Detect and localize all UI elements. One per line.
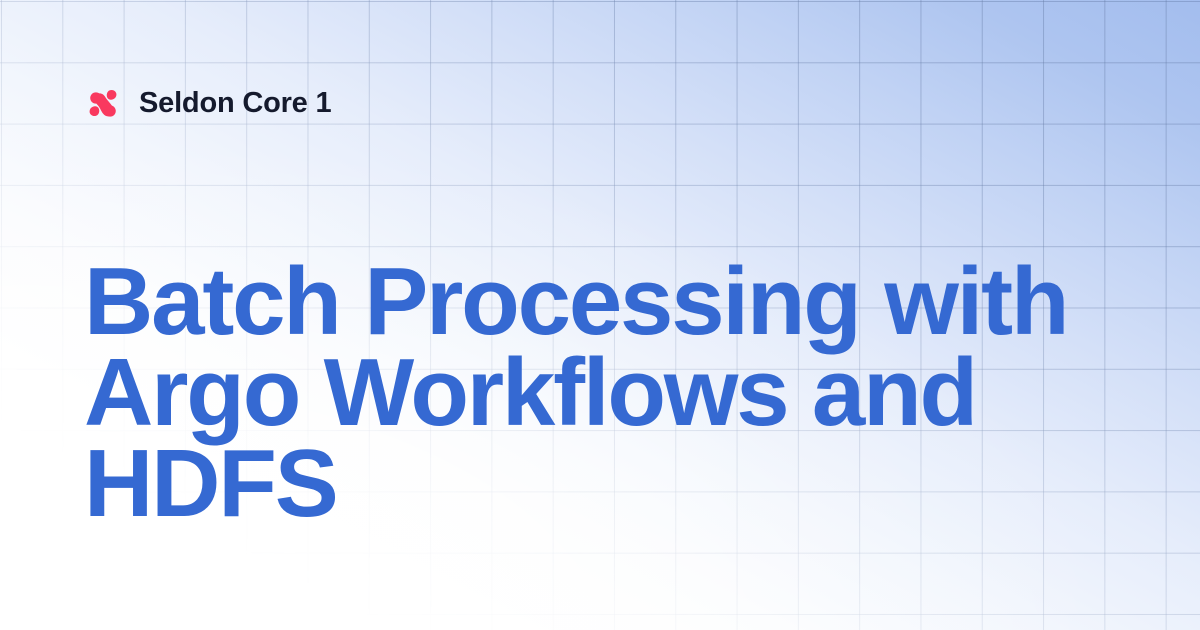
brand-name: Seldon Core 1: [139, 89, 331, 118]
page-title-line-3: HDFS: [84, 438, 1094, 529]
brand: Seldon Core 1: [84, 82, 331, 124]
seldon-logo-icon: [84, 84, 122, 122]
og-card: Seldon Core 1 Batch Processing with Argo…: [0, 0, 1200, 630]
page-title-line-1: Batch Processing with: [84, 256, 1094, 347]
page-title: Batch Processing with Argo Workflows and…: [84, 256, 1094, 529]
page-title-line-2: Argo Workflows and: [84, 347, 1094, 438]
